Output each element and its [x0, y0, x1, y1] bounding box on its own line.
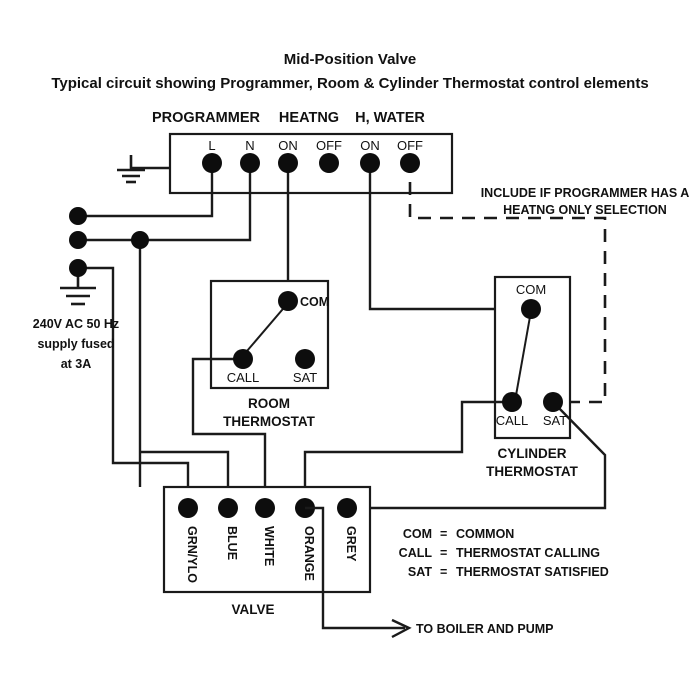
programmer-terminal-label-heating-on: ON: [278, 138, 298, 153]
legend-eq-call: =: [440, 546, 447, 560]
room-thermostat-label-call: CALL: [227, 370, 260, 385]
note-line2: HEATNG ONLY SELECTION: [503, 203, 667, 217]
wire-earth-to-valve-grnylo: [78, 268, 188, 508]
diagram-title-line2: Typical circuit showing Programmer, Room…: [51, 75, 648, 92]
room-thermostat-name-line1: ROOM: [248, 396, 290, 411]
valve-label-orange: ORANGE: [302, 526, 316, 581]
programmer-terminal-hotwater-off[interactable]: [400, 153, 420, 173]
cylinder-thermostat-terminal-sat[interactable]: [543, 392, 563, 412]
heating-heading: HEATNG: [279, 110, 339, 126]
room-thermostat-label-com: COM: [300, 295, 329, 309]
programmer-terminal-label-hotwater-off: OFF: [397, 138, 423, 153]
supply-terminal-live: [69, 207, 87, 225]
legend-abbr-sat: SAT: [408, 565, 432, 579]
programmer-terminal-heating-off[interactable]: [319, 153, 339, 173]
cylinder-thermostat-terminal-call[interactable]: [502, 392, 522, 412]
programmer-terminal-L[interactable]: [202, 153, 222, 173]
programmer-terminal-N[interactable]: [240, 153, 260, 173]
programmer-terminal-hotwater-on[interactable]: [360, 153, 380, 173]
boiler-pump-label: TO BOILER AND PUMP: [416, 622, 554, 636]
valve-terminal-white[interactable]: [255, 498, 275, 518]
room-thermostat-name-line2: THERMOSTAT: [223, 414, 315, 429]
note-line1: INCLUDE IF PROGRAMMER HAS A: [481, 186, 690, 200]
supply-label-line1: 240V AC 50 Hz: [33, 317, 119, 331]
wiring-diagram: Mid-Position Valve Typical circuit showi…: [0, 0, 700, 700]
valve-label-blue: BLUE: [225, 526, 239, 560]
legend-meaning-com: COMMON: [456, 527, 514, 541]
valve-label-grnylo: GRN/YLO: [185, 526, 199, 583]
room-thermostat-label-sat: SAT: [293, 370, 317, 385]
programmer-terminal-label-N: N: [245, 138, 254, 153]
programmer-terminal-label-hotwater-on: ON: [360, 138, 380, 153]
supply-terminal-neutral: [69, 231, 87, 249]
hot-water-heading: H, WATER: [355, 110, 425, 126]
valve-terminal-grnylo[interactable]: [178, 498, 198, 518]
supply-label-line3: at 3A: [61, 357, 92, 371]
cylinder-thermostat-name-line1: CYLINDER: [497, 446, 566, 461]
legend-eq-com: =: [440, 527, 447, 541]
valve-label-grey: GREY: [344, 526, 358, 562]
diagram-title-line1: Mid-Position Valve: [284, 51, 417, 68]
cylinder-thermostat-label-sat: SAT: [543, 413, 567, 428]
legend-meaning-call: THERMOSTAT CALLING: [456, 546, 600, 560]
programmer-terminal-label-L: L: [208, 138, 215, 153]
programmer-heading: PROGRAMMER: [152, 110, 260, 126]
valve-name: VALVE: [231, 602, 274, 617]
programmer-terminal-label-heating-off: OFF: [316, 138, 342, 153]
legend-meaning-sat: THERMOSTAT SATISFIED: [456, 565, 609, 579]
legend-abbr-com: COM: [403, 527, 432, 541]
programmer-terminal-heating-on[interactable]: [278, 153, 298, 173]
supply-label-line2: supply fused: [37, 337, 114, 351]
room-thermostat-terminal-com[interactable]: [278, 291, 298, 311]
legend-eq-sat: =: [440, 565, 447, 579]
cylinder-thermostat-label-com: COM: [516, 282, 546, 297]
room-thermostat-terminal-call[interactable]: [233, 349, 253, 369]
valve-terminal-grey[interactable]: [337, 498, 357, 518]
diagram-canvas: Mid-Position Valve Typical circuit showi…: [0, 0, 700, 700]
valve-label-white: WHITE: [262, 526, 276, 566]
cylinder-thermostat-label-call: CALL: [496, 413, 529, 428]
room-thermostat-terminal-sat[interactable]: [295, 349, 315, 369]
junction-dot-neutral: [131, 231, 149, 249]
supply-terminal-earth: [69, 259, 87, 277]
cylinder-thermostat-terminal-com[interactable]: [521, 299, 541, 319]
valve-terminal-blue[interactable]: [218, 498, 238, 518]
cylinder-thermostat-name-line2: THERMOSTAT: [486, 464, 578, 479]
legend-abbr-call: CALL: [399, 546, 433, 560]
